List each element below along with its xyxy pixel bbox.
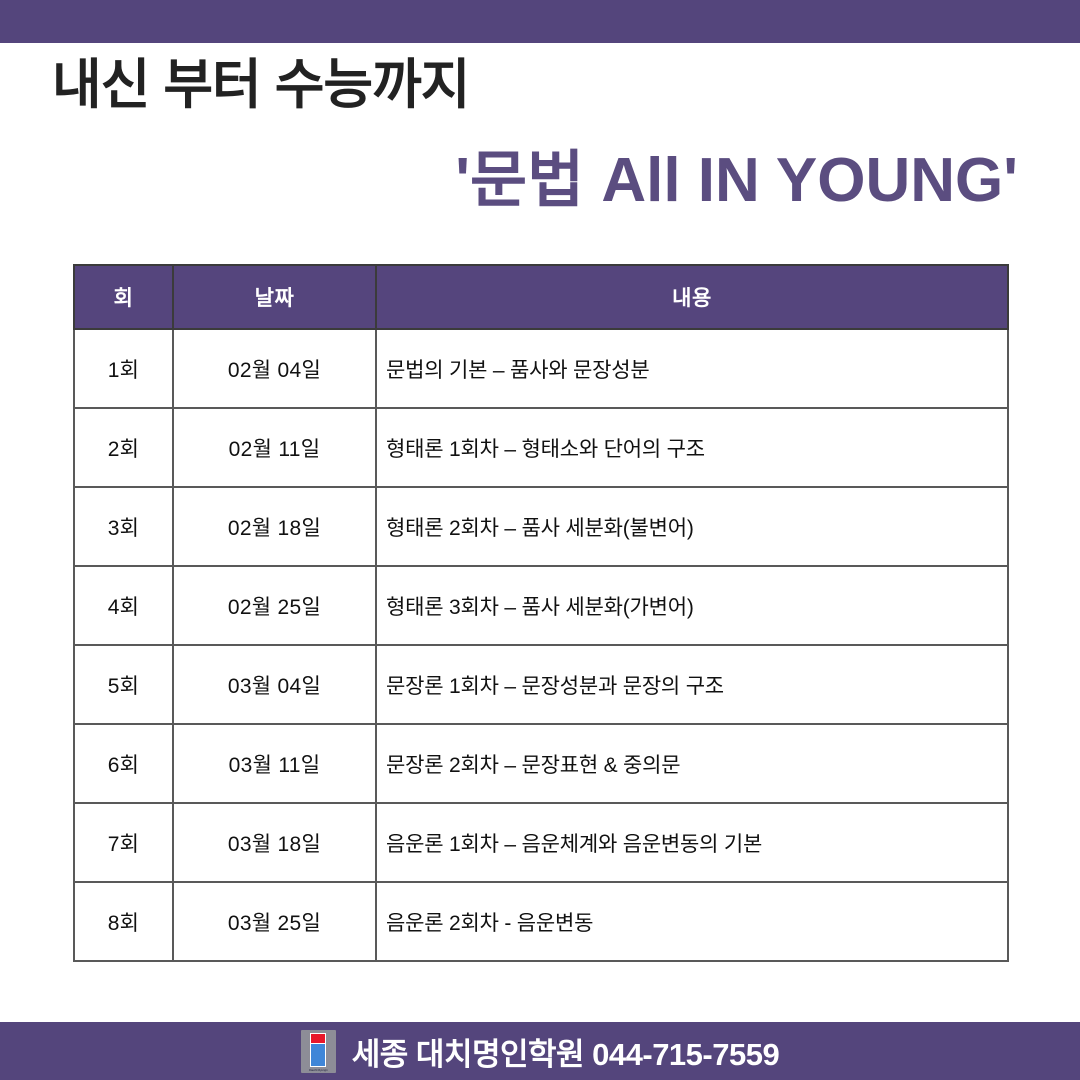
cell-date: 03월 18일 bbox=[173, 803, 376, 882]
schedule-table: 회 날짜 내용 1회 02월 04일 문법의 기본 – 품사와 문장성분 2회 … bbox=[73, 264, 1009, 962]
table-row: 6회 03월 11일 문장론 2회차 – 문장표현 & 중의문 bbox=[74, 724, 1008, 803]
table-head: 회 날짜 내용 bbox=[74, 265, 1008, 329]
cell-date: 02월 11일 bbox=[173, 408, 376, 487]
table-row: 2회 02월 11일 형태론 1회차 – 형태소와 단어의 구조 bbox=[74, 408, 1008, 487]
table-body: 1회 02월 04일 문법의 기본 – 품사와 문장성분 2회 02월 11일 … bbox=[74, 329, 1008, 961]
academy-logo-icon: Daechi Myungin bbox=[301, 1030, 336, 1073]
cell-session: 1회 bbox=[74, 329, 173, 408]
cell-session: 6회 bbox=[74, 724, 173, 803]
column-header-content: 내용 bbox=[376, 265, 1008, 329]
column-header-session: 회 bbox=[74, 265, 173, 329]
cell-session: 7회 bbox=[74, 803, 173, 882]
cell-session: 5회 bbox=[74, 645, 173, 724]
cell-content: 문법의 기본 – 품사와 문장성분 bbox=[376, 329, 1008, 408]
cell-content: 음운론 1회차 – 음운체계와 음운변동의 기본 bbox=[376, 803, 1008, 882]
top-accent-bar bbox=[0, 0, 1080, 43]
cell-date: 03월 04일 bbox=[173, 645, 376, 724]
cell-date: 03월 25일 bbox=[173, 882, 376, 961]
cell-session: 3회 bbox=[74, 487, 173, 566]
cell-date: 02월 18일 bbox=[173, 487, 376, 566]
cell-content: 문장론 1회차 – 문장성분과 문장의 구조 bbox=[376, 645, 1008, 724]
table-row: 4회 02월 25일 형태론 3회차 – 품사 세분화(가변어) bbox=[74, 566, 1008, 645]
table-row: 7회 03월 18일 음운론 1회차 – 음운체계와 음운변동의 기본 bbox=[74, 803, 1008, 882]
table-row: 1회 02월 04일 문법의 기본 – 품사와 문장성분 bbox=[74, 329, 1008, 408]
cell-content: 음운론 2회차 - 음운변동 bbox=[376, 882, 1008, 961]
cell-session: 2회 bbox=[74, 408, 173, 487]
logo-caption: Daechi Myungin bbox=[301, 1069, 336, 1072]
table-row: 5회 03월 04일 문장론 1회차 – 문장성분과 문장의 구조 bbox=[74, 645, 1008, 724]
table-row: 8회 03월 25일 음운론 2회차 - 음운변동 bbox=[74, 882, 1008, 961]
page-subtitle: '문법 All IN YOUNG' bbox=[455, 148, 1018, 213]
column-header-date: 날짜 bbox=[173, 265, 376, 329]
footer-bar: Daechi Myungin 세종 대치명인학원 044-715-7559 bbox=[0, 1022, 1080, 1080]
cell-session: 4회 bbox=[74, 566, 173, 645]
cell-session: 8회 bbox=[74, 882, 173, 961]
cell-date: 02월 04일 bbox=[173, 329, 376, 408]
cell-content: 형태론 1회차 – 형태소와 단어의 구조 bbox=[376, 408, 1008, 487]
schedule-table-container: 회 날짜 내용 1회 02월 04일 문법의 기본 – 품사와 문장성분 2회 … bbox=[73, 264, 1007, 962]
logo-blue-block bbox=[310, 1043, 326, 1067]
table-row: 3회 02월 18일 형태론 2회차 – 품사 세분화(불변어) bbox=[74, 487, 1008, 566]
cell-date: 02월 25일 bbox=[173, 566, 376, 645]
poster-root: 내신 부터 수능까지 '문법 All IN YOUNG' 회 날짜 내용 1회 … bbox=[0, 0, 1080, 1080]
table-header-row: 회 날짜 내용 bbox=[74, 265, 1008, 329]
cell-date: 03월 11일 bbox=[173, 724, 376, 803]
cell-content: 형태론 2회차 – 품사 세분화(불변어) bbox=[376, 487, 1008, 566]
cell-content: 형태론 3회차 – 품사 세분화(가변어) bbox=[376, 566, 1008, 645]
page-title: 내신 부터 수능까지 bbox=[52, 57, 469, 114]
cell-content: 문장론 2회차 – 문장표현 & 중의문 bbox=[376, 724, 1008, 803]
footer-contact-text: 세종 대치명인학원 044-715-7559 bbox=[352, 1029, 779, 1074]
